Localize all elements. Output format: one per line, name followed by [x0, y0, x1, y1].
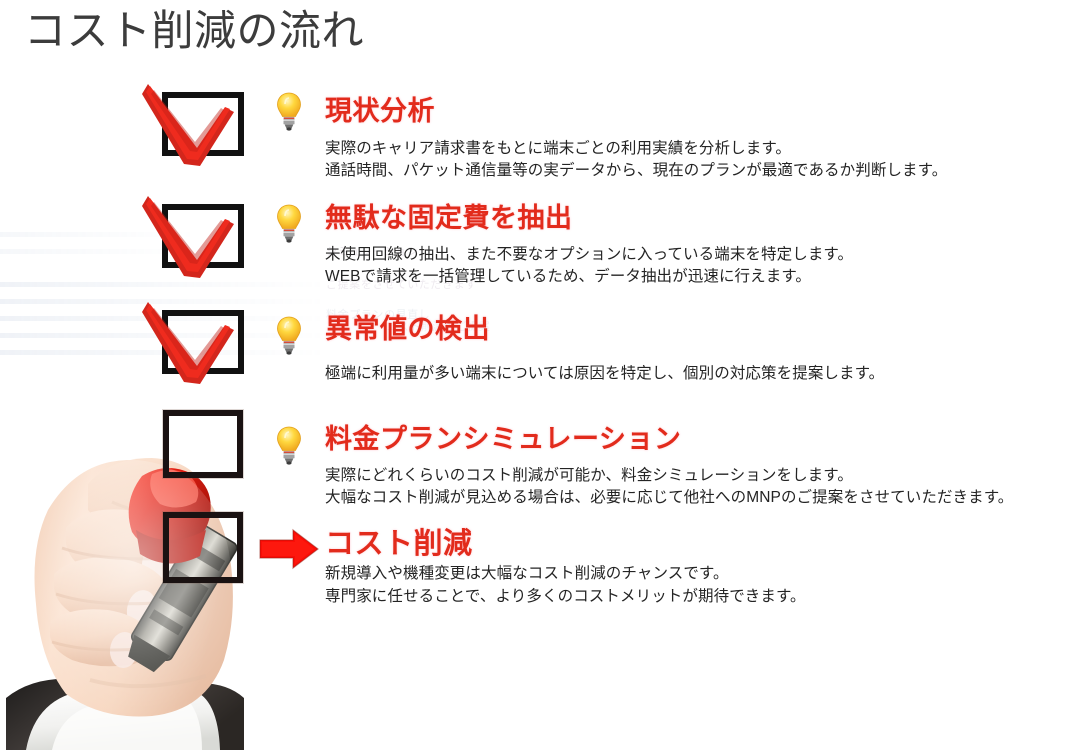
checkbox-step-4[interactable] — [163, 410, 243, 478]
checkbox-step-3[interactable] — [162, 310, 244, 374]
step-2-line: WEBで請求を一括管理しているため、データ抽出が迅速に行えます。 — [325, 266, 853, 289]
step-4-body: 実際にどれくらいのコスト削減が可能か、料金シミュレーションをします。 大幅なコス… — [325, 465, 1013, 510]
step-5-line: 専門家に任せることで、より多くのコストメリットが期待できます。 — [325, 586, 806, 609]
slide-canvas: コスト削減の流れ シミュレーション ご提案をさせていただきます 料金プランの見直… — [0, 0, 1070, 750]
step-3-body: 極端に利用量が多い端末については原因を特定し、個別の対応策を提案します。 — [325, 363, 884, 386]
step-4-heading: 料金プランシミュレーション — [325, 424, 1013, 456]
light-bulb-icon — [276, 426, 302, 466]
light-bulb-icon — [276, 204, 302, 244]
step-2-text-block: 無駄な固定費を抽出 未使用回線の抽出、また不要なオプションに入っている端末を特定… — [325, 203, 853, 289]
red-right-arrow-icon — [258, 527, 320, 571]
light-bulb-icon — [276, 92, 302, 132]
step-5-line: 新規導入や機種変更は大幅なコスト削減のチャンスです。 — [325, 563, 806, 586]
hand-holding-red-marker-photo — [0, 398, 322, 750]
checkbox-step-1[interactable] — [162, 92, 244, 156]
step-4-text-block: 料金プランシミュレーション 実際にどれくらいのコスト削減が可能か、料金シミュレー… — [325, 424, 1013, 510]
step-2-line: 未使用回線の抽出、また不要なオプションに入っている端末を特定します。 — [325, 244, 853, 267]
step-5-text-block: コスト削減 新規導入や機種変更は大幅なコスト削減のチャンスです。 専門家に任せる… — [325, 527, 806, 608]
step-5-body: 新規導入や機種変更は大幅なコスト削減のチャンスです。 専門家に任せることで、より… — [325, 563, 806, 608]
step-1-line: 通話時間、パケット通信量等の実データから、現在のプランが最適であるか判断します。 — [325, 160, 947, 183]
step-1-text-block: 現状分析 実際のキャリア請求書をもとに端末ごとの利用実績を分析します。 通話時間… — [325, 96, 947, 183]
checkbox-step-2[interactable] — [162, 204, 244, 268]
light-bulb-icon — [276, 316, 302, 356]
step-4-line: 大幅なコスト削減が見込める場合は、必要に応じて他社へのMNPのご提案をさせていた… — [325, 487, 1013, 510]
page-title: コスト削減の流れ — [24, 8, 364, 54]
step-5-heading: コスト削減 — [325, 527, 806, 561]
step-2-body: 未使用回線の抽出、また不要なオプションに入っている端末を特定します。 WEBで請… — [325, 244, 853, 289]
step-1-heading: 現状分析 — [325, 96, 947, 128]
step-1-line: 実際のキャリア請求書をもとに端末ごとの利用実績を分析します。 — [325, 138, 947, 161]
step-1-body: 実際のキャリア請求書をもとに端末ごとの利用実績を分析します。 通話時間、パケット… — [325, 138, 947, 183]
step-3-heading: 異常値の検出 — [325, 314, 884, 346]
step-3-line: 極端に利用量が多い端末については原因を特定し、個別の対応策を提案します。 — [325, 363, 884, 386]
step-4-line: 実際にどれくらいのコスト削減が可能か、料金シミュレーションをします。 — [325, 465, 1013, 488]
step-2-heading: 無駄な固定費を抽出 — [325, 203, 853, 235]
step-3-text-block: 異常値の検出 極端に利用量が多い端末については原因を特定し、個別の対応策を提案し… — [325, 314, 884, 385]
checkbox-step-5[interactable] — [163, 512, 243, 583]
